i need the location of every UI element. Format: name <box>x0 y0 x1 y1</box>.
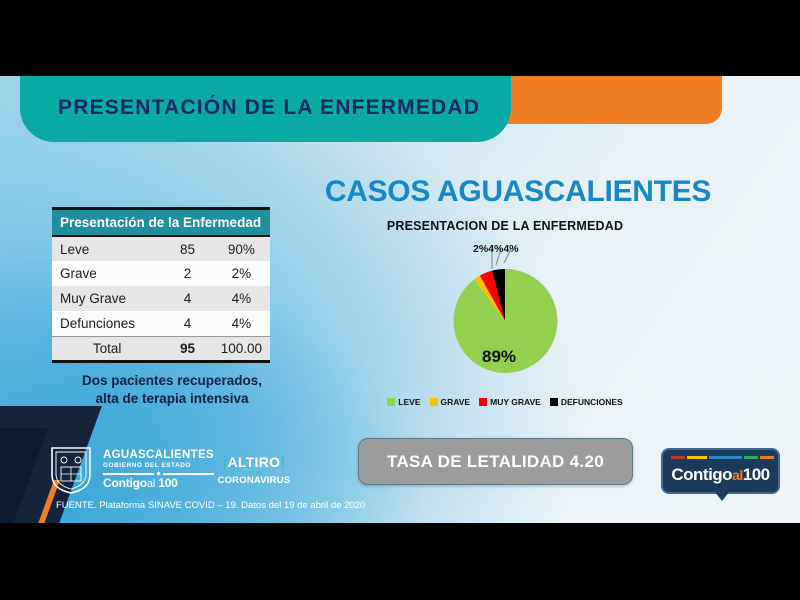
recovery-note-line1: Dos pacientes recuperados, <box>82 373 262 388</box>
chart-legend: LEVE GRAVE MUY GRAVE DEFUNCIONES <box>355 397 655 407</box>
recovery-note: Dos pacientes recuperados, alta de terap… <box>52 372 292 408</box>
altiro-logo: ¡ALTIRO! CON EL CORONAVIRUS <box>223 447 285 493</box>
altiro-word: ALTIRO <box>227 454 280 470</box>
total-percent: 100.00 <box>213 336 270 361</box>
gov-al-word: al <box>147 478 155 490</box>
slide-stage: PRESENTACIÓN DE LA ENFERMEDAD CASOS AGUA… <box>0 0 800 600</box>
altiro-bottom-text: CORONAVIRUS <box>218 476 291 486</box>
gov-logo-divider <box>103 472 214 475</box>
gov-logo-line2: GOBIERNO DEL ESTADO <box>103 463 214 470</box>
legend-label: MUY GRAVE <box>490 397 541 407</box>
page-title: CASOS AGUASCALIENTES <box>318 175 718 209</box>
slide-content: PRESENTACIÓN DE LA ENFERMEDAD CASOS AGUA… <box>0 76 800 523</box>
legend-swatch-icon <box>479 398 487 406</box>
aguascalientes-shield-icon <box>48 445 94 495</box>
lethality-rate-box: TASA DE LETALIDAD 4.20 <box>358 438 633 485</box>
table-row: Grave 2 2% <box>52 261 270 286</box>
contigo-al-word: al <box>732 467 743 483</box>
contigo-num-word: 100 <box>743 465 770 484</box>
legend-swatch-icon <box>387 398 395 406</box>
lethality-rate-label: TASA DE LETALIDAD 4.20 <box>387 452 604 472</box>
pie-outside-labels: 2%4%4% <box>473 243 519 255</box>
gov-num-word: 100 <box>158 476 177 490</box>
legend-label: LEVE <box>398 397 420 407</box>
legend-item-defunciones: DEFUNCIONES <box>550 397 623 407</box>
row-count: 4 <box>162 286 212 311</box>
source-footer: FUENTE. Plataforma SINAVE COVID – 19. Da… <box>56 500 365 511</box>
legend-swatch-icon <box>550 398 558 406</box>
gov-logo-text: AGUASCALIENTES GOBIERNO DEL ESTADO Conti… <box>103 450 214 490</box>
row-percent: 4% <box>213 286 270 311</box>
altiro-top-text: ¡ALTIRO! <box>223 455 286 469</box>
letterbox-top <box>0 0 800 76</box>
row-percent: 4% <box>213 311 270 336</box>
row-percent: 2% <box>213 261 270 286</box>
row-label: Defunciones <box>52 311 162 336</box>
government-logos: AGUASCALIENTES GOBIERNO DEL ESTADO Conti… <box>48 444 285 496</box>
contigo-word: Contigo <box>671 465 732 484</box>
row-label: Grave <box>52 261 162 286</box>
pie-chart-svg <box>415 243 595 393</box>
presentation-table-wrapper: Presentación de la Enfermedad Leve 85 90… <box>52 207 270 363</box>
table-row: Muy Grave 4 4% <box>52 286 270 311</box>
table-row: Leve 85 90% <box>52 236 270 261</box>
pie-chart: PRESENTACION DE LA ENFERMEDAD 2%4%4% 89% <box>355 219 655 419</box>
recovery-note-line2: alta de terapia intensiva <box>95 391 248 406</box>
presentation-table: Presentación de la Enfermedad Leve 85 90… <box>52 207 270 363</box>
letterbox-bottom <box>0 523 800 600</box>
contigo-color-bars <box>671 456 774 459</box>
legend-swatch-icon <box>430 398 438 406</box>
altiro-mid-text: CON EL <box>244 470 263 475</box>
row-count: 4 <box>162 311 212 336</box>
gov-logo-line1: AGUASCALIENTES <box>103 450 214 462</box>
contigo-al-100-logo: Contigoal100 <box>661 448 780 494</box>
row-label: Muy Grave <box>52 286 162 311</box>
legend-label: GRAVE <box>441 397 471 407</box>
table-row: Defunciones 4 4% <box>52 311 270 336</box>
legend-item-muy-grave: MUY GRAVE <box>479 397 541 407</box>
row-count: 2 <box>162 261 212 286</box>
legend-item-leve: LEVE <box>387 397 420 407</box>
row-label: Leve <box>52 236 162 261</box>
table-header: Presentación de la Enfermedad <box>52 209 270 237</box>
contigo-bubble-tail <box>715 492 729 501</box>
row-percent: 90% <box>213 236 270 261</box>
row-count: 85 <box>162 236 212 261</box>
legend-label: DEFUNCIONES <box>561 397 623 407</box>
contigo-wordmark: Contigoal100 <box>663 465 778 485</box>
pie-inside-label: 89% <box>459 347 539 367</box>
section-banner: PRESENTACIÓN DE LA ENFERMEDAD <box>20 76 511 142</box>
gov-logo-line3: Contigoal 100 <box>103 477 214 490</box>
table-total-row: Total 95 100.00 <box>52 336 270 361</box>
total-count: 95 <box>162 336 212 361</box>
gov-contigo-word: Contigo <box>103 476 147 490</box>
section-banner-title: PRESENTACIÓN DE LA ENFERMEDAD <box>58 96 480 120</box>
chart-title: PRESENTACION DE LA ENFERMEDAD <box>355 219 655 233</box>
total-label: Total <box>52 336 162 361</box>
legend-item-grave: GRAVE <box>430 397 471 407</box>
